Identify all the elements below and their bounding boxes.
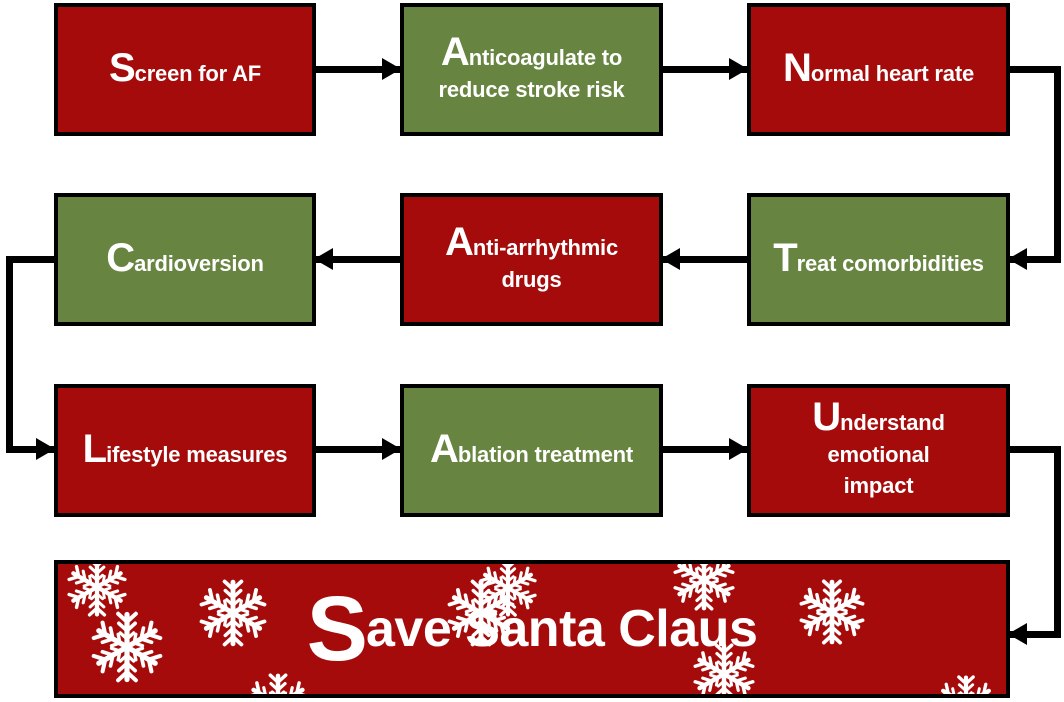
arrowhead-anticoagulate-to-normal (729, 58, 748, 80)
banner-save-santa-claus[interactable]: Save Santa Claus (54, 560, 1010, 698)
connector-normal-to-treat-vertical (1054, 66, 1061, 263)
node-rest: ardioversion (134, 251, 264, 276)
node-anticoagulate[interactable]: Anticoagulate to reduce stroke risk (400, 3, 663, 136)
node-treat-comorbidities-label: Treat comorbidities (751, 240, 1006, 280)
arrowhead-normal-to-treat (1008, 248, 1027, 270)
node-lifestyle-measures-label: Lifestyle measures (58, 431, 312, 471)
node-ablation-treatment-label: Ablation treatment (404, 431, 659, 471)
node-ablation-treatment[interactable]: Ablation treatment (400, 384, 663, 517)
node-rest: reat comorbidities (797, 251, 984, 276)
node-lifestyle-measures[interactable]: Lifestyle measures (54, 384, 316, 517)
node-anticoagulate-label: Anticoagulate to reduce stroke risk (404, 34, 659, 106)
node-normal-heart-rate[interactable]: Normal heart rate (747, 3, 1010, 136)
arrowhead-lifestyle-to-ablation (382, 438, 401, 460)
node-rest: nticoagulate to (469, 45, 622, 70)
node-initial: A (430, 427, 458, 471)
diagram-canvas: Screen for AF Anticoagulate to reduce st… (0, 0, 1064, 702)
node-anti-arrhythmic-drugs[interactable]: Anti-arrhythmic drugs (400, 193, 663, 326)
node-treat-comorbidities[interactable]: Treat comorbidities (747, 193, 1010, 326)
node-rest: creen for AF (135, 61, 261, 86)
node-rest: ormal heart rate (811, 61, 974, 86)
arrowhead-antiarrhythmic-to-cardioversion (314, 248, 333, 270)
arrowhead-screen-to-anticoagulate (382, 58, 401, 80)
node-initial: L (83, 427, 106, 471)
node-initial: C (106, 236, 134, 280)
banner-label: Save Santa Claus (58, 564, 1006, 694)
node-initial: U (812, 395, 840, 439)
arrowhead-understand-to-banner (1008, 623, 1027, 645)
node-screen-for-af[interactable]: Screen for AF (54, 3, 316, 136)
connector-cardioversion-to-lifestyle-vertical (6, 256, 13, 453)
connector-understand-to-banner-vertical (1054, 446, 1061, 638)
node-understand-emotional-impact[interactable]: Understand emotional impact (747, 384, 1010, 517)
node-rest: nti-arrhythmic drugs (473, 235, 618, 292)
node-initial: N (783, 46, 811, 90)
node-initial: A (441, 30, 469, 74)
node-initial: S (109, 46, 135, 90)
node-rest: ifestyle measures (106, 442, 287, 467)
node-initial: T (773, 236, 796, 280)
arrowhead-ablation-to-understand (729, 438, 748, 460)
node-line2: impact (844, 473, 914, 498)
arrowhead-treat-to-antiarrhythmic (661, 248, 680, 270)
arrowhead-cardioversion-to-lifestyle (36, 438, 55, 460)
node-initial: A (445, 220, 473, 264)
banner-rest: ave Santa Claus (366, 599, 757, 659)
node-normal-heart-rate-label: Normal heart rate (751, 50, 1006, 90)
node-understand-emotional-impact-label: Understand emotional impact (751, 399, 1006, 503)
banner-initial: S (307, 590, 366, 668)
node-line2: reduce stroke risk (439, 77, 625, 102)
node-screen-for-af-label: Screen for AF (58, 50, 312, 90)
connector-cardioversion-to-lifestyle-top (6, 256, 56, 263)
node-cardioversion[interactable]: Cardioversion (54, 193, 316, 326)
node-anti-arrhythmic-drugs-label: Anti-arrhythmic drugs (404, 224, 659, 296)
node-rest: blation treatment (458, 442, 633, 467)
node-cardioversion-label: Cardioversion (58, 240, 312, 280)
node-rest: nderstand emotional (827, 410, 944, 467)
